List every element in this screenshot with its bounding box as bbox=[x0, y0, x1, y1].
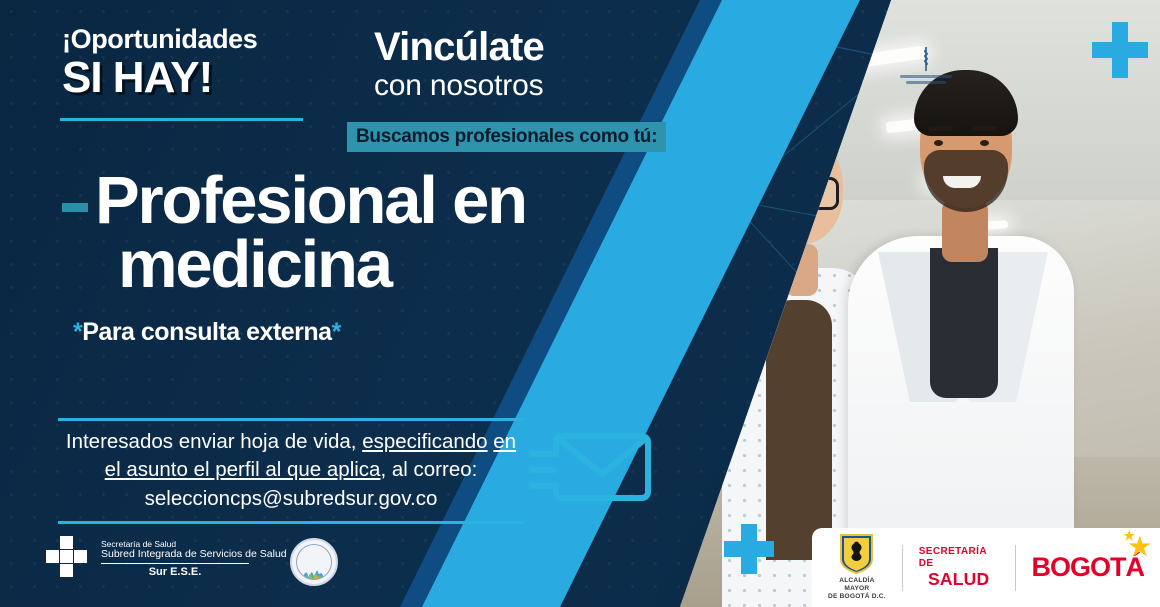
intro-line2: con nosotros bbox=[374, 69, 544, 102]
footer-logo-bar: ALCALDÍA MAYOR DE BOGOTÁ D.C. SECRETARÍA… bbox=[812, 528, 1160, 607]
kicker-text: ¡Oportunidades SI HAY! bbox=[62, 26, 257, 101]
bogota-text: BOGOTÁ bbox=[1032, 552, 1145, 582]
star-small-icon: ★ bbox=[1123, 529, 1134, 542]
secretaria-bottom-label: SALUD bbox=[928, 570, 989, 588]
secretaria-top-label: SECRETARÍA DE bbox=[919, 546, 999, 570]
alcaldia-label: ALCALDÍA MAYOR DE BOGOTÁ D.C. bbox=[828, 577, 886, 602]
contact-email[interactable]: seleccioncps@subredsur.gov.co bbox=[58, 485, 524, 513]
alcaldia-logo: ALCALDÍA MAYOR DE BOGOTÁ D.C. bbox=[812, 534, 902, 602]
intro-line1: Vincúlate bbox=[374, 26, 544, 68]
contact-text: Interesados enviar hoja de vida, especif… bbox=[58, 421, 524, 513]
subred-line2: Subred Integrada de Servicios de Salud bbox=[101, 549, 287, 561]
bogota-logo: BOGOTÁ ★ ★ bbox=[1016, 554, 1160, 581]
intro-text: Vincúlate con nosotros bbox=[374, 26, 544, 102]
recruitment-banner: ¡Oportunidades SI HAY! Vincúlate con nos… bbox=[0, 0, 1160, 607]
seeking-badge: Buscamos profesionales como tú: bbox=[347, 122, 666, 152]
subred-logo-text: Secretaría de Salud Subred Integrada de … bbox=[101, 540, 287, 579]
job-title-line2: medicina bbox=[118, 234, 526, 297]
secretaria-salud-logo: SECRETARÍA DE SALUD bbox=[903, 546, 1015, 588]
subred-logo: Secretaría de Salud Subred Integrada de … bbox=[46, 536, 287, 582]
job-note-text: Para consulta externa bbox=[82, 318, 331, 346]
accreditation-seal bbox=[290, 538, 338, 586]
job-note: *Para consulta externa* bbox=[73, 318, 341, 347]
subred-line3: Sur E.S.E. bbox=[101, 563, 249, 578]
bogota-coat-of-arms-icon bbox=[840, 534, 873, 574]
envelope-icon bbox=[528, 424, 652, 510]
contact-bottom-rule bbox=[58, 521, 524, 524]
contact-underlined-1: especificando bbox=[362, 430, 487, 453]
dash-decoration bbox=[62, 203, 88, 212]
kicker-line1: ¡Oportunidades bbox=[62, 26, 257, 53]
contact-line1-a: Interesados enviar hoja de vida, bbox=[66, 430, 362, 453]
contact-block: Interesados enviar hoja de vida, especif… bbox=[58, 418, 524, 524]
kicker-line2: SI HAY! bbox=[62, 55, 257, 101]
asterisk-right: * bbox=[332, 318, 341, 346]
subred-logo-mark bbox=[46, 536, 92, 582]
plus-icon-bottom bbox=[724, 524, 774, 574]
job-title: Profesional en medicina bbox=[62, 170, 526, 297]
bogota-label: BOGOTÁ ★ ★ bbox=[1032, 554, 1145, 581]
kicker-underline bbox=[60, 118, 303, 121]
asterisk-left: * bbox=[73, 318, 82, 346]
plus-icon-top-right bbox=[1092, 22, 1148, 78]
contact-line2-b: , al correo: bbox=[380, 458, 477, 481]
